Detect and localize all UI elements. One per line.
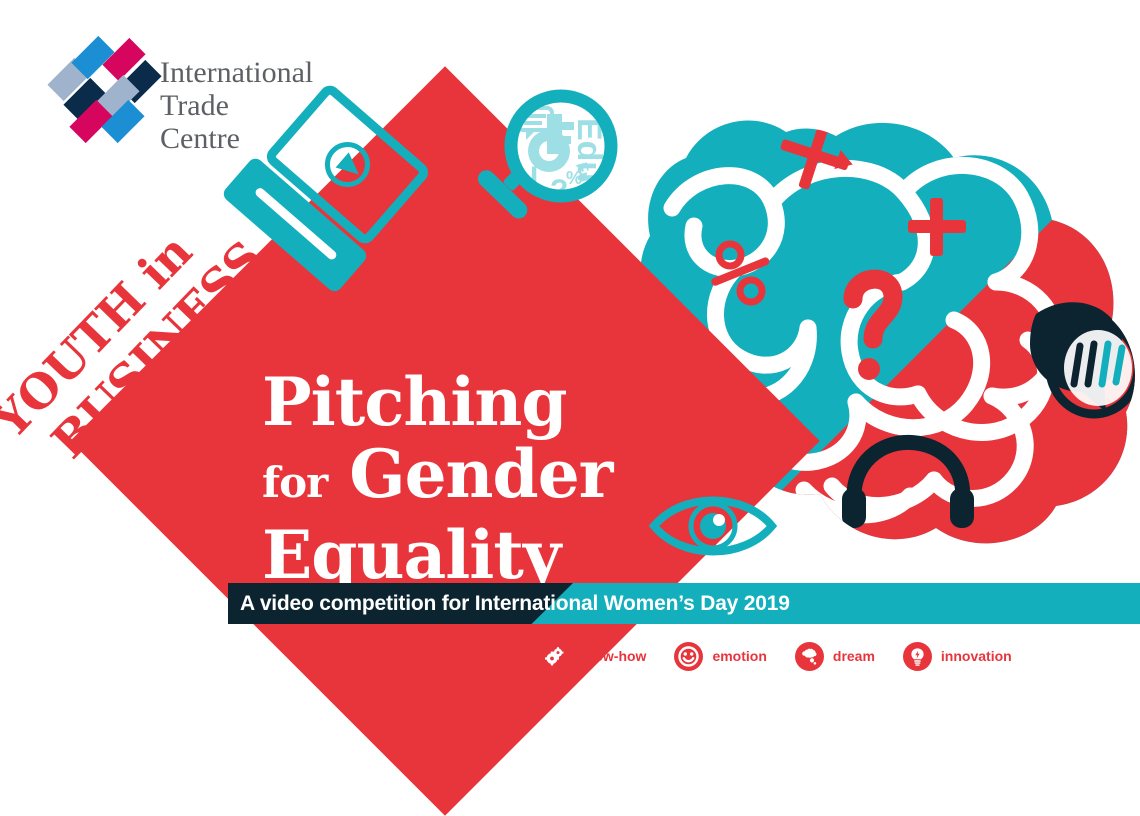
keyword-label: innovation <box>941 648 1012 664</box>
title-for-word: for <box>262 458 327 507</box>
magnifier-icon: % Edu Future N ? % <box>450 72 640 272</box>
gears-icon <box>540 642 569 671</box>
itc-logo: International Trade Centre <box>52 38 322 158</box>
subtitle-banner: A video competition for International Wo… <box>228 583 1140 624</box>
keyword-label: know-how <box>578 648 646 664</box>
thought-cloud-icon <box>795 642 824 671</box>
itc-logo-text: International Trade Centre <box>160 56 313 155</box>
lightbulb-icon <box>903 642 932 671</box>
logo-line-2: Trade <box>160 89 313 122</box>
logo-line-3: Centre <box>160 122 313 155</box>
title-line-1: Pitching <box>262 366 682 438</box>
keyword-item-emotion: emotion <box>674 642 766 671</box>
svg-text:%: % <box>566 168 582 188</box>
keyword-item-know-how: know-how <box>540 642 646 671</box>
keyword-label: dream <box>833 648 875 664</box>
keyword-item-dream: dream <box>795 642 875 671</box>
title-gender-word: Gender <box>349 435 612 513</box>
poster-canvas: % Edu Future N ? % <box>0 0 1140 760</box>
keyword-label: emotion <box>712 648 766 664</box>
keyword-row: know-how emotion <box>540 638 1040 674</box>
title-line-2: for Gender <box>262 438 682 519</box>
smiley-icon <box>674 642 703 671</box>
keyword-item-innovation: innovation <box>903 642 1012 671</box>
page-title: Pitching for Gender Equality <box>262 366 682 591</box>
title-line-3: Equality <box>262 519 682 591</box>
banner-text: A video competition for International Wo… <box>240 583 790 624</box>
logo-line-1: International <box>160 56 313 89</box>
itc-logo-mark <box>52 38 164 153</box>
